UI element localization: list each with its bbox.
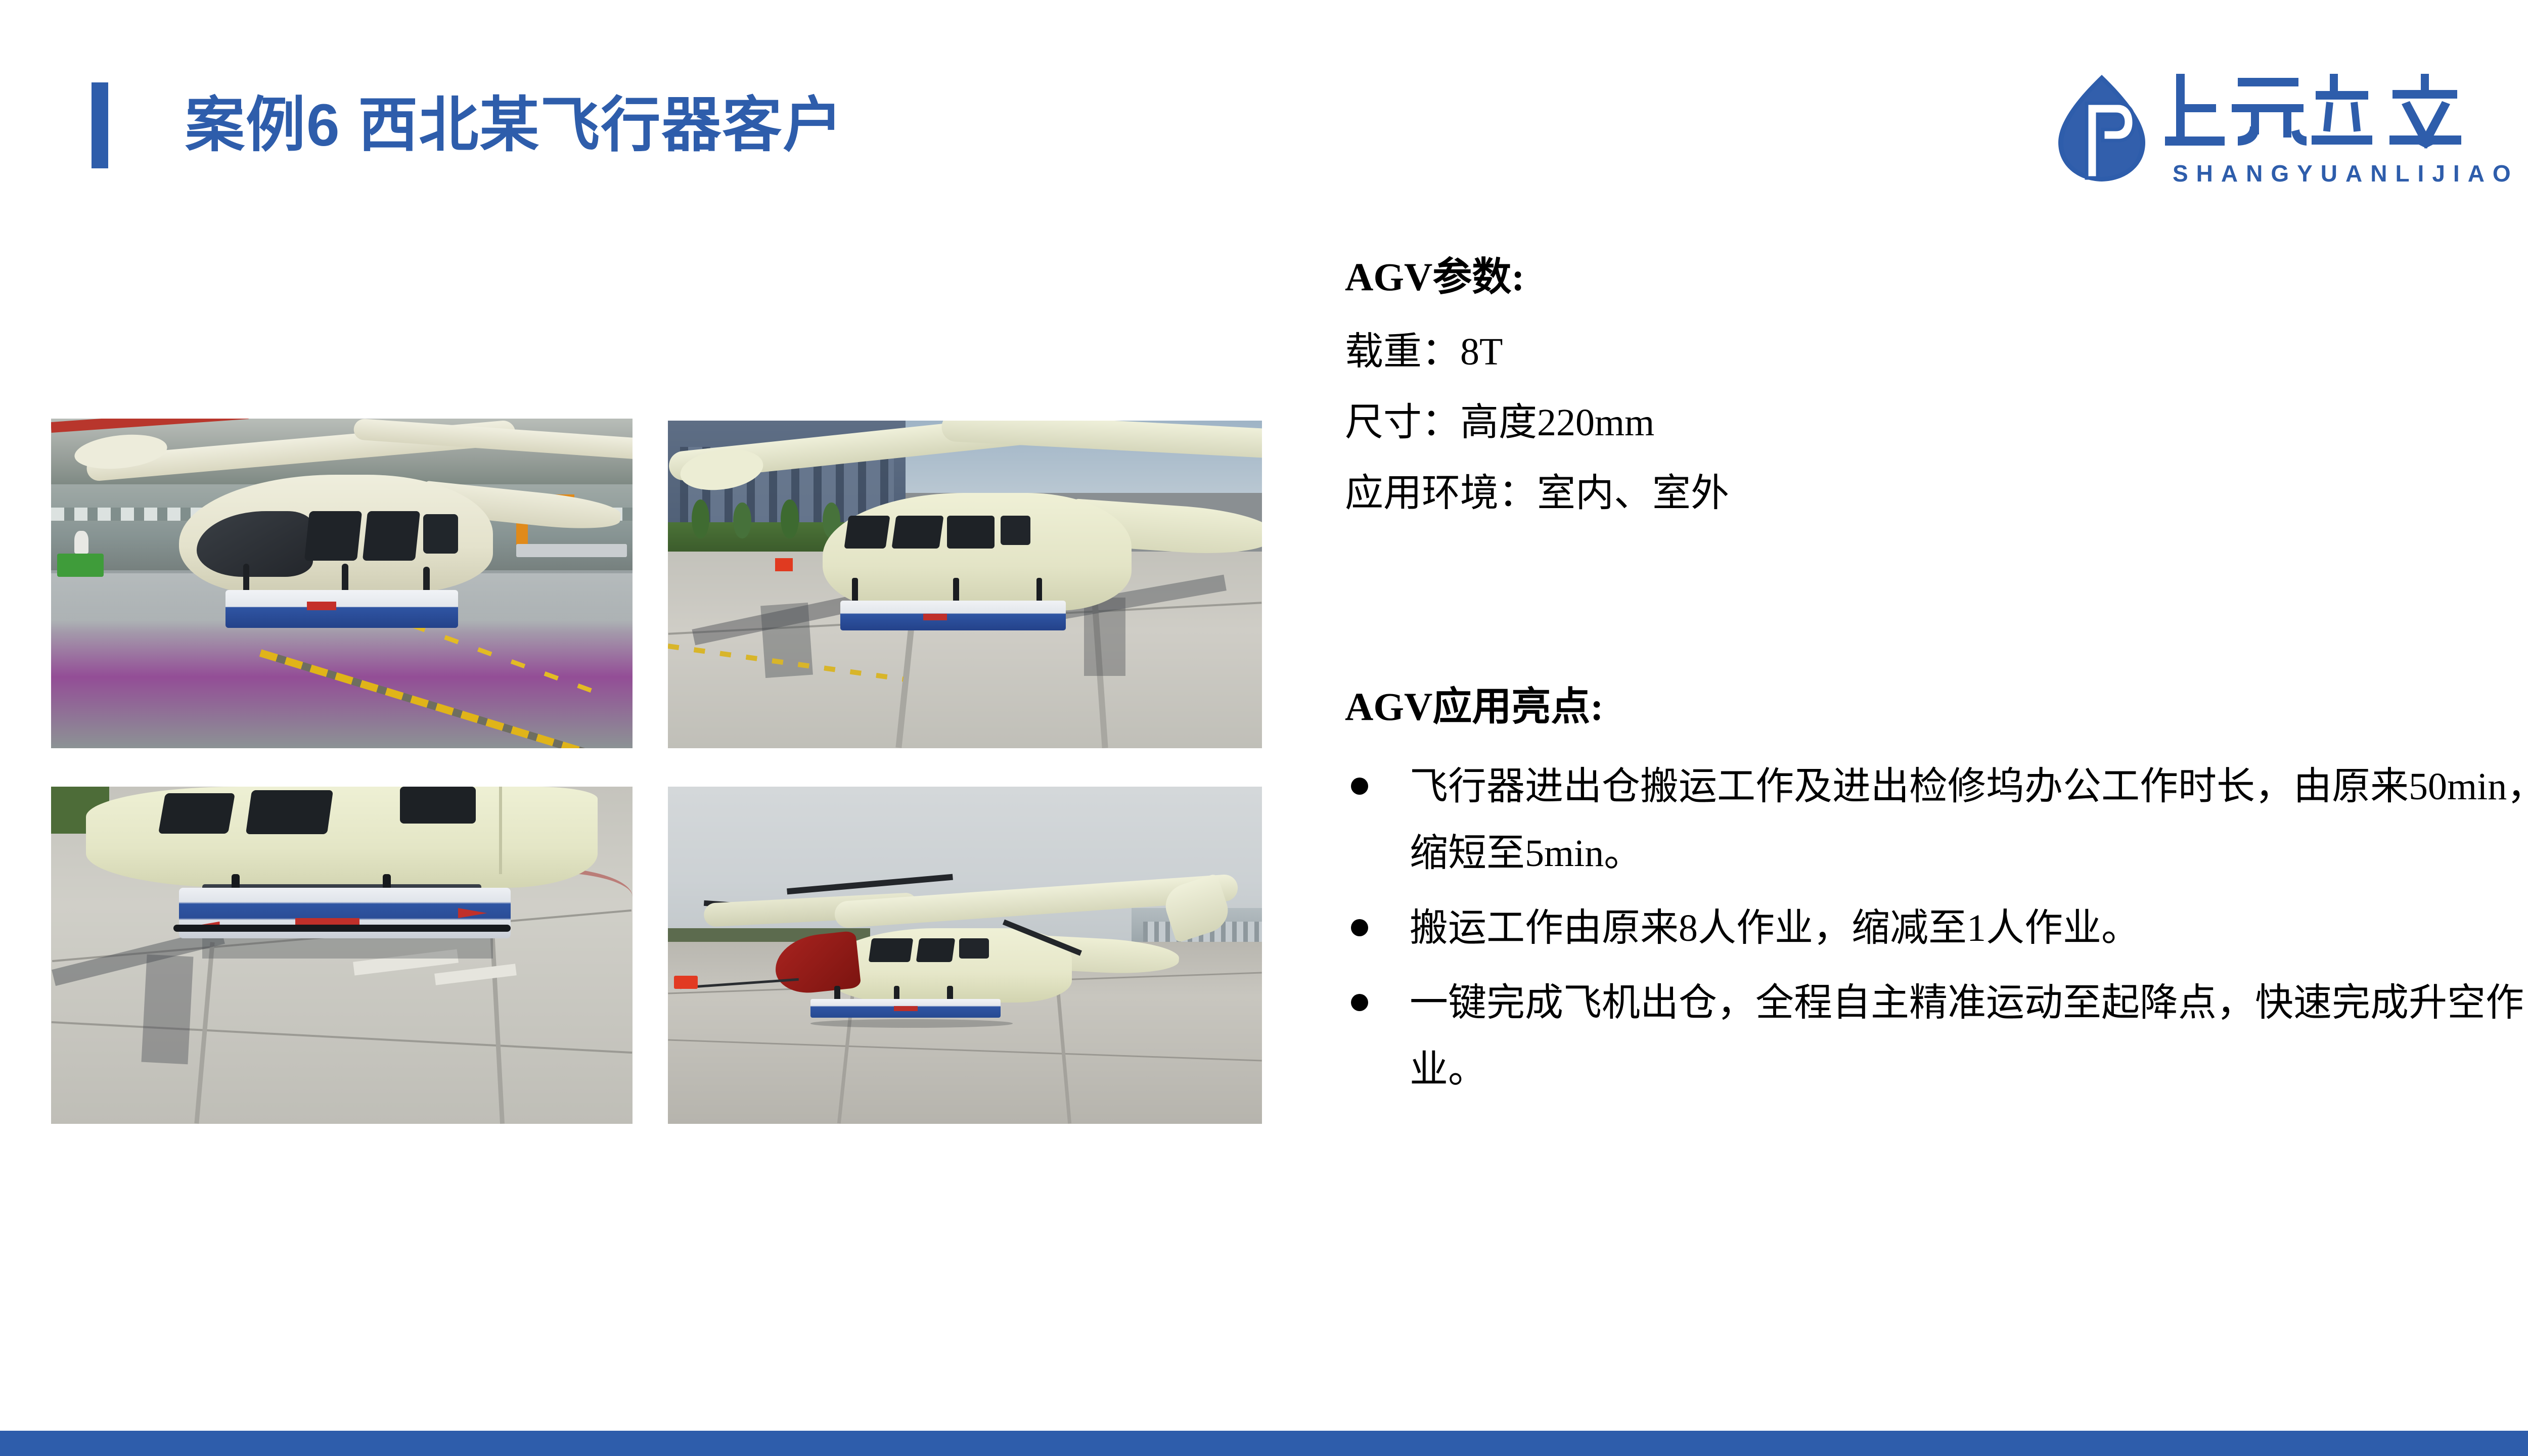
shangyuan-p-mark-icon	[2055, 74, 2149, 183]
brand-logo: SHANGYUANLIJIAO	[2055, 71, 2500, 187]
spec-line-payload: 载重：8T	[1345, 316, 2528, 387]
footer-bar	[0, 1431, 2528, 1456]
list-item: 飞行器进出仓搬运工作及进出检修坞办公工作时长，由原来50min，缩短至5min。	[1345, 753, 2528, 887]
title-accent-bar	[92, 82, 108, 168]
list-item: 一键完成飞机出仓，全程自主精准运动至起降点，快速完成升空作业。	[1345, 970, 2528, 1103]
bullet-dot-icon	[1351, 778, 1368, 795]
bullet-dot-icon	[1351, 919, 1368, 936]
agv-highlight-block: AGV应用亮点: 飞行器进出仓搬运工作及进出检修坞办公工作时长，由原来50min…	[1345, 682, 2528, 1111]
photo-apron-agv	[668, 421, 1262, 748]
spec-line-environment: 应用环境：室内、室外	[1345, 458, 2528, 529]
bullet-dot-icon	[1351, 994, 1368, 1011]
spec-line-dimension: 尺寸：高度220mm	[1345, 387, 2528, 458]
highlight-bullet-2: 搬运工作由原来8人作业，缩减至1人作业。	[1410, 895, 2528, 962]
highlight-heading: AGV应用亮点:	[1345, 682, 2528, 731]
slide-canvas: 案例6 西北某飞行器客户	[0, 0, 2528, 1456]
highlight-bullet-3: 一键完成飞机出仓，全程自主精准运动至起降点，快速完成升空作业。	[1410, 970, 2528, 1103]
agv-spec-block: AGV参数: 载重：8T 尺寸：高度220mm 应用环境：室内、室外	[1345, 253, 2528, 529]
page-title: 案例6 西北某飞行器客户	[185, 85, 843, 166]
spec-heading: AGV参数:	[1345, 253, 2528, 301]
logo-wordmark-cn-icon	[2164, 71, 2495, 156]
logo-wordmark-latin: SHANGYUANLIJIAO	[2173, 160, 2519, 187]
photo-aircraft-side	[668, 787, 1262, 1124]
photo-hangar-agv	[51, 419, 633, 748]
photo-agv-closeup	[51, 787, 633, 1124]
highlight-bullet-1: 飞行器进出仓搬运工作及进出检修坞办公工作时长，由原来50min，缩短至5min。	[1410, 753, 2528, 887]
list-item: 搬运工作由原来8人作业，缩减至1人作业。	[1345, 895, 2528, 962]
